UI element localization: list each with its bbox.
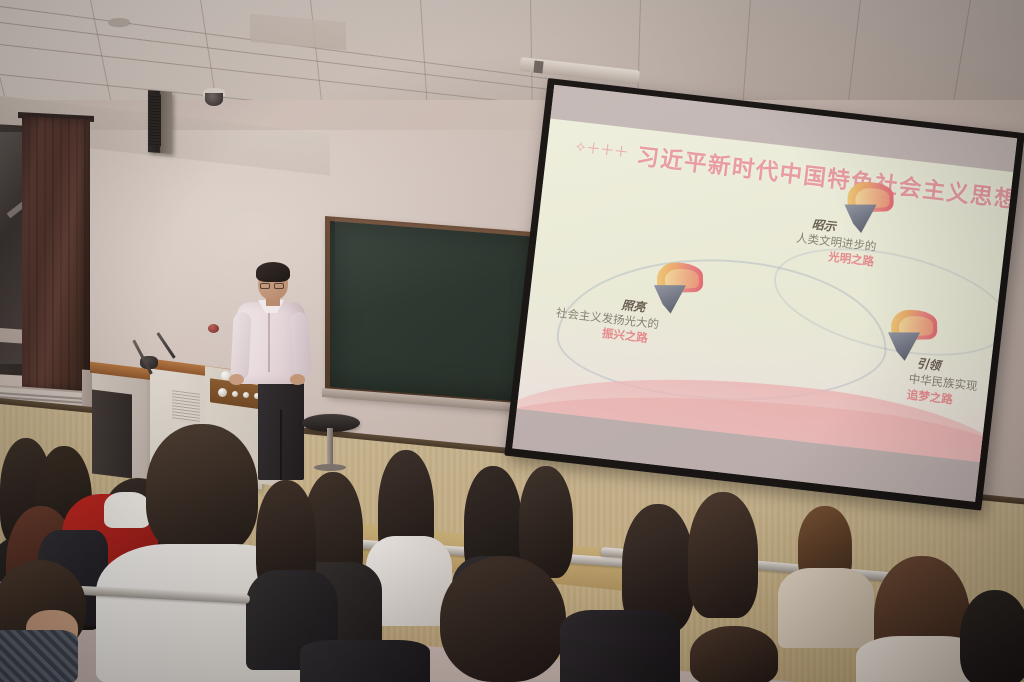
torch-icon	[647, 259, 707, 317]
slide-title-decoration: ✧＋＋＋	[573, 136, 629, 163]
audience-head	[690, 626, 778, 682]
audience-body	[778, 568, 874, 648]
projected-slide: ✧＋＋＋ 习近平新时代中国特色社会主义思想 照亮 社会主义发扬光大的 振兴之路 …	[517, 119, 1013, 463]
control-knob[interactable]	[243, 392, 249, 398]
screen-canvas: ✧＋＋＋ 习近平新时代中国特色社会主义思想 照亮 社会主义发扬光大的 振兴之路 …	[512, 85, 1017, 502]
speaker-grille-icon	[149, 94, 161, 147]
audience-checked-sleeve	[0, 630, 78, 682]
audience-body	[300, 640, 430, 682]
presenter-hair	[256, 262, 290, 282]
microphone-head-icon	[208, 324, 219, 333]
eyeglasses-icon	[260, 283, 270, 289]
smoke-detector-icon	[108, 18, 130, 26]
control-knob[interactable]	[232, 391, 238, 397]
lecture-hall-photo: ✧＋＋＋ 习近平新时代中国特色社会主义思想 照亮 社会主义发扬光大的 振兴之路 …	[0, 0, 1024, 682]
pull-down-projection-screen[interactable]: ✧＋＋＋ 习近平新时代中国特色社会主义思想 照亮 社会主义发扬光大的 振兴之路 …	[504, 78, 1024, 511]
presenter-shirt-placket	[268, 306, 270, 372]
presenter-left-arm	[230, 312, 252, 381]
control-knob[interactable]	[218, 388, 227, 397]
presenter-leg-seam	[280, 410, 282, 480]
blackboard-sheen	[335, 218, 535, 323]
screen-bracket	[533, 61, 543, 74]
lectern-speaker-grille-icon	[172, 390, 200, 424]
torch-icon	[837, 179, 897, 237]
audience-head	[960, 590, 1024, 682]
presenter-left-hand	[229, 374, 244, 385]
audience-head	[688, 492, 758, 618]
audience-body	[560, 610, 680, 682]
bar-stool-base	[314, 464, 346, 471]
audience-head	[146, 424, 258, 556]
audience-head	[440, 556, 566, 682]
eyeglasses-icon	[274, 283, 284, 289]
window-curtain	[22, 116, 90, 392]
lectern-dark-face	[92, 390, 132, 479]
presenter-right-hand	[290, 374, 305, 385]
dome-security-camera-icon	[205, 93, 223, 106]
bar-stool-pole	[327, 428, 333, 468]
audience-white-collar	[104, 492, 150, 528]
